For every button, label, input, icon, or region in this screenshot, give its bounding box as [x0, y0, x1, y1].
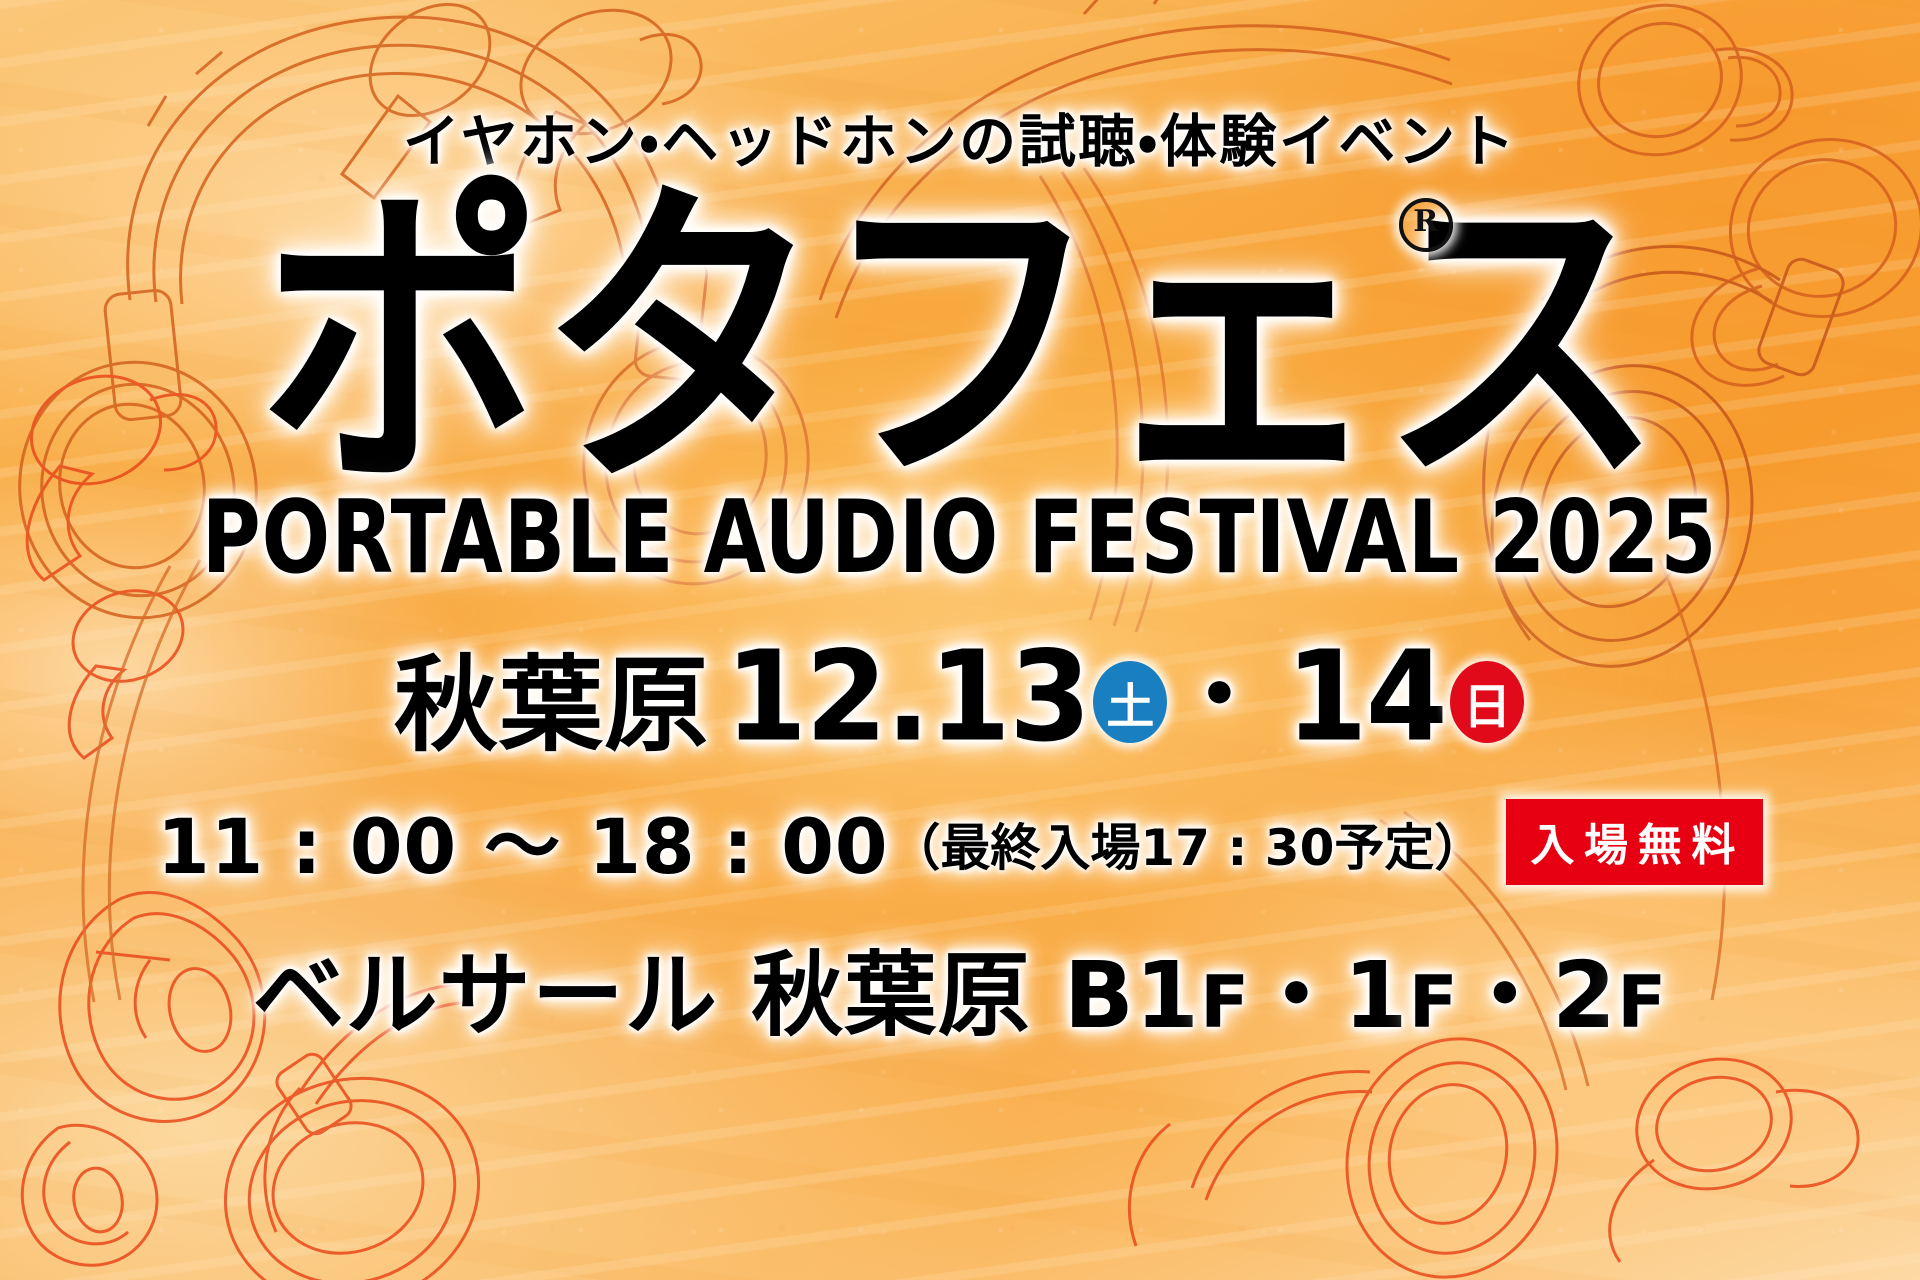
venue-line: ベルサール 秋葉原 B1F・1F・2F: [253, 921, 1668, 1054]
venue-floor-2-suffix: F: [1617, 960, 1667, 1044]
poster-content: イヤホン・ヘッドホンの試聴・体験イベント ポタフェス R PORTABLE AU…: [0, 0, 1920, 1280]
venue-city: 秋葉原: [394, 620, 709, 771]
time-line: 11 : 00 〜 18 : 00 （最終入場17 : 30予定） 入場無料: [157, 785, 1763, 895]
free-admission-badge: 入場無料: [1506, 799, 1763, 885]
registered-trademark-icon: R: [1399, 198, 1453, 252]
venue-name: ベルサール 秋葉原: [253, 942, 1031, 1049]
venue-floor-dot-1: ・: [1250, 942, 1343, 1049]
venue-floor-2: 2: [1552, 942, 1617, 1049]
date-line: 秋葉原 12.13 土 ・ 14 日: [394, 620, 1526, 771]
venue-floor-1: 1: [1343, 942, 1408, 1049]
day-badge-saturday: 土: [1093, 661, 1167, 743]
date-second: 14: [1285, 622, 1446, 768]
venue-floor-b1: B1: [1064, 942, 1200, 1049]
poster-canvas: イヤホン・ヘッドホンの試聴・体験イベント ポタフェス R PORTABLE AU…: [0, 0, 1920, 1280]
logo-block: ポタフェス R: [273, 192, 1646, 492]
last-entry-note: （最終入場17 : 30予定）: [890, 808, 1484, 880]
opening-hours: 11 : 00 〜 18 : 00: [157, 785, 889, 895]
date-first: 12.13: [725, 622, 1089, 768]
venue-floor-b1-suffix: F: [1200, 960, 1250, 1044]
date-separator: ・: [1173, 621, 1265, 754]
day-badge-sunday: 日: [1450, 661, 1524, 743]
festival-subtitle: PORTABLE AUDIO FESTIVAL 2025: [202, 478, 1718, 596]
venue-floor-dot-2: ・: [1459, 942, 1552, 1049]
venue-floor-1-suffix: F: [1409, 960, 1459, 1044]
